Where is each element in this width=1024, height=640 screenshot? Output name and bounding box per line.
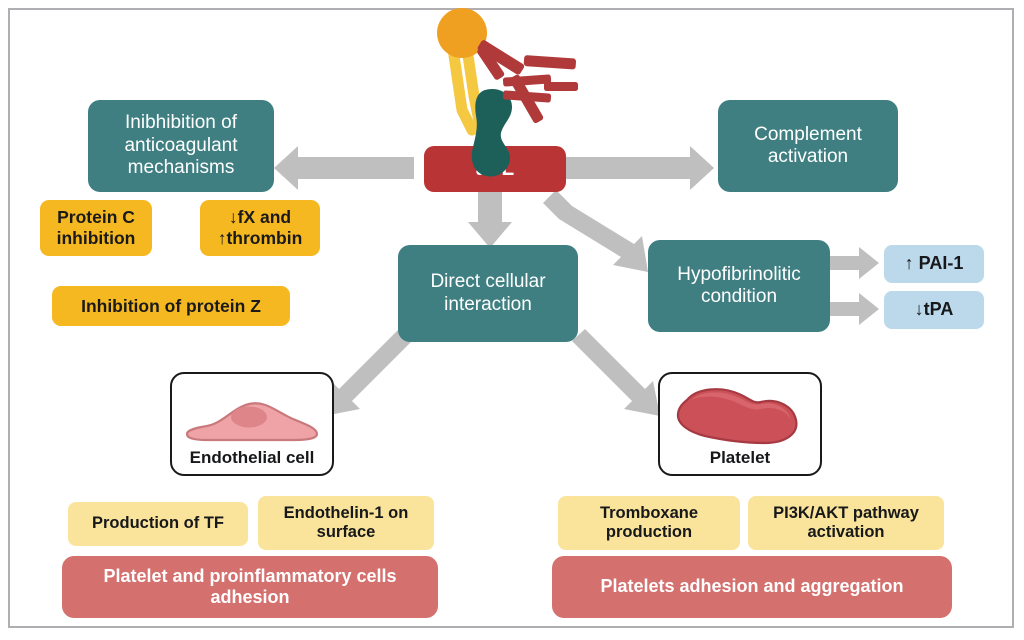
node-platelets-adhesion-aggregation[interactable]: Platelets adhesion and aggregation: [552, 556, 952, 618]
node-hypofibrinolitic-condition[interactable]: Hypofibrinolitic condition: [648, 240, 830, 332]
node-protein-c-inhibition[interactable]: Protein C inhibition: [40, 200, 152, 256]
node-inhibition-anticoagulant[interactable]: Inibhibition of anticoagulant mechanisms: [88, 100, 274, 192]
node-tpa[interactable]: ↓tPA: [884, 291, 984, 329]
node-production-of-tf[interactable]: Production of TF: [68, 502, 248, 546]
node-direct-cellular-interaction[interactable]: Direct cellular interaction: [398, 245, 578, 342]
figure-canvas: aPL Inibhibition of anticoagulant mechan…: [0, 0, 1024, 640]
node-apl[interactable]: aPL: [424, 146, 566, 192]
node-complement-activation[interactable]: Complement activation: [718, 100, 898, 192]
platelet-icon: [665, 382, 815, 448]
node-fx-thrombin[interactable]: ↓fX and ↑thrombin: [200, 200, 320, 256]
card-platelet[interactable]: Platelet: [658, 372, 822, 476]
card-endothelial-cell[interactable]: Endothelial cell: [170, 372, 334, 476]
endothelial-cell-caption: Endothelial cell: [190, 448, 315, 468]
node-tromboxane-production[interactable]: Tromboxane production: [558, 496, 740, 550]
endothelial-cell-icon: [177, 386, 327, 448]
node-pi3k-akt[interactable]: PI3K/AKT pathway activation: [748, 496, 944, 550]
node-platelet-proinflammatory-adhesion[interactable]: Platelet and proinflammatory cells adhes…: [62, 556, 438, 618]
platelet-caption: Platelet: [710, 448, 770, 468]
node-inhibition-protein-z[interactable]: Inhibition of protein Z: [52, 286, 290, 326]
node-pai-1[interactable]: ↑ PAI-1: [884, 245, 984, 283]
node-endothelin-1[interactable]: Endothelin-1 on surface: [258, 496, 434, 550]
